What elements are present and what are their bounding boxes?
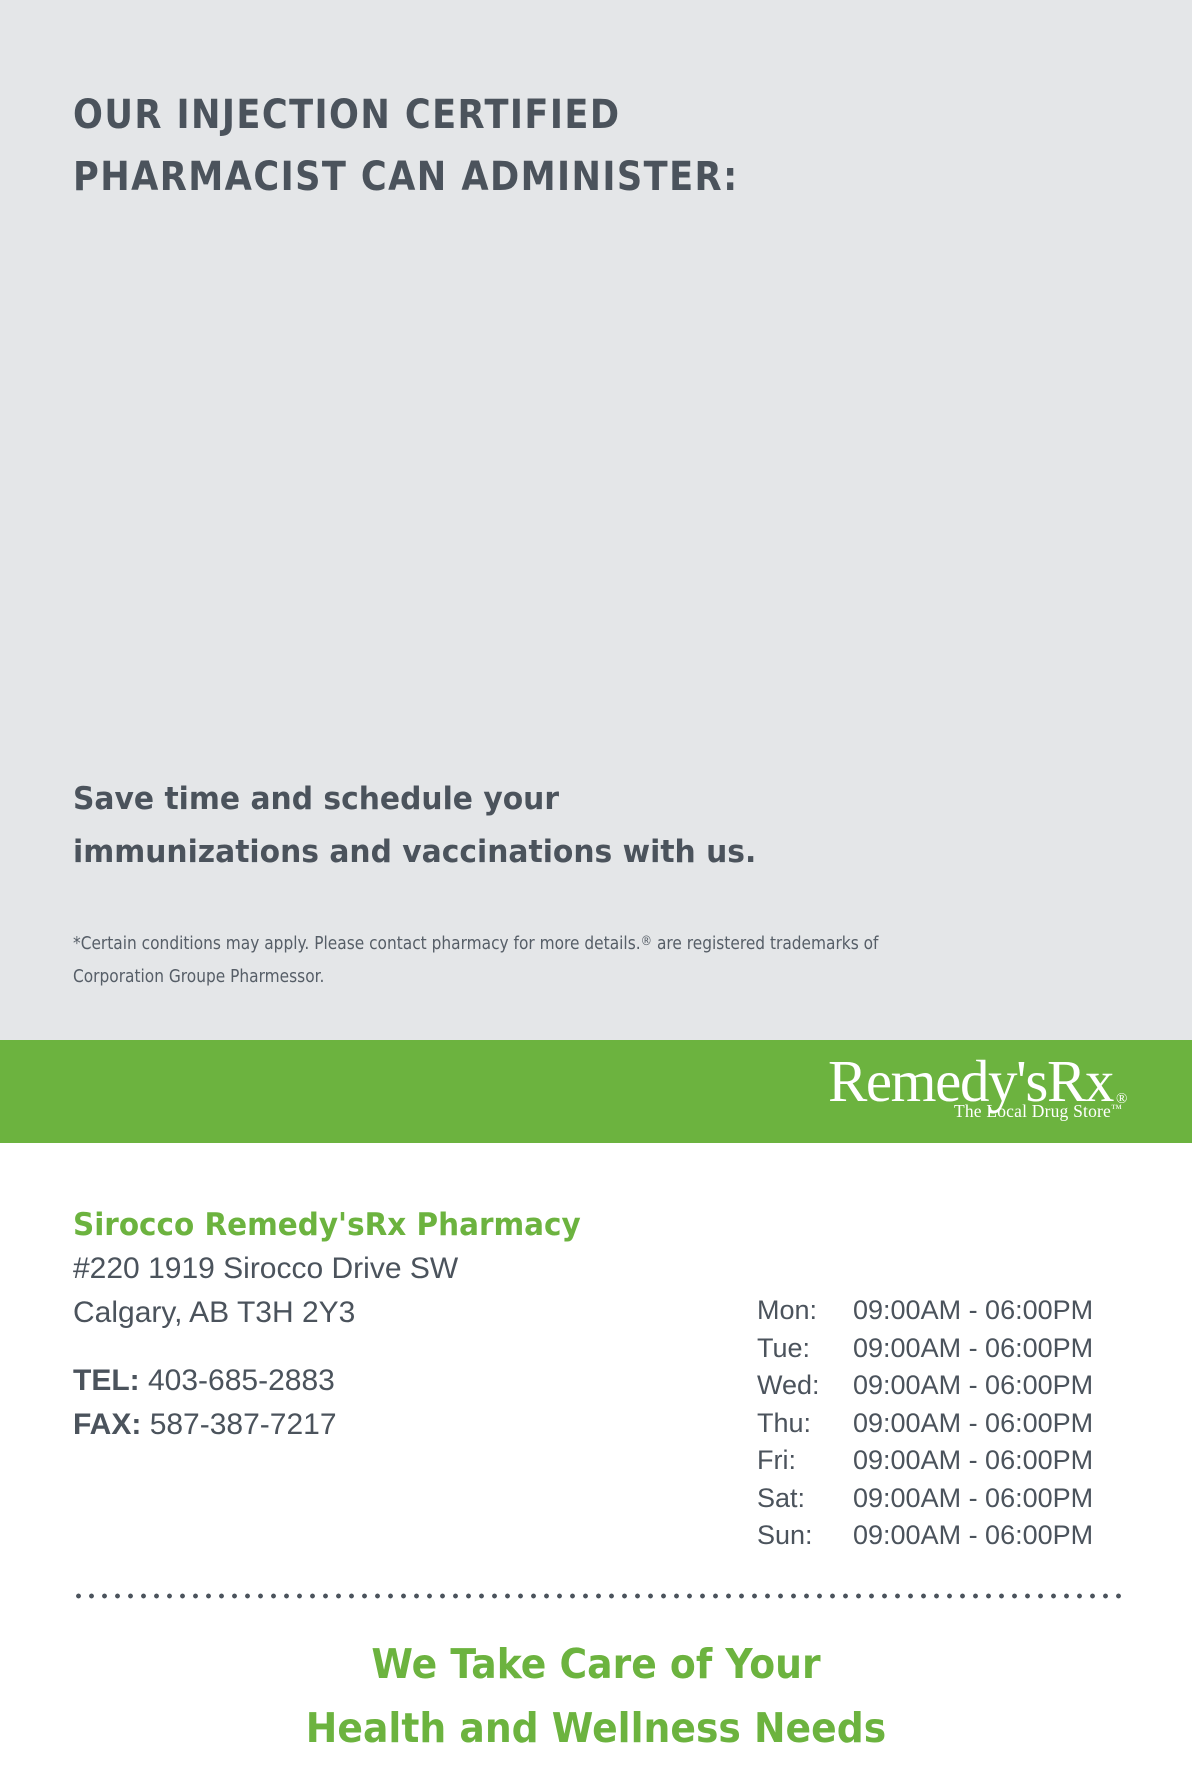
footer-tagline-line-2: Health and Wellness Needs [48, 1696, 1145, 1760]
store-address-line-1: #220 1919 Sirocco Drive SW [73, 1247, 713, 1291]
brand-trademark-icon: ™ [1111, 1103, 1122, 1115]
hours-row: Mon: 09:00AM - 06:00PM [757, 1292, 1137, 1330]
hours-time-value: 09:00AM - 06:00PM [853, 1405, 1137, 1443]
hours-time-value: 09:00AM - 06:00PM [853, 1292, 1137, 1330]
store-telephone-value[interactable]: 403-685-2883 [148, 1364, 335, 1397]
hours-time-value: 09:00AM - 06:00PM [853, 1330, 1137, 1368]
footer-tagline-line-1: We Take Care of Your [48, 1632, 1145, 1696]
hours-row: Fri: 09:00AM - 06:00PM [757, 1442, 1137, 1480]
dotted-divider [72, 1592, 1127, 1600]
store-telephone-label: TEL: [73, 1364, 140, 1397]
hours-day-label: Sun: [757, 1517, 853, 1555]
registered-trademark-icon: ® [641, 934, 652, 949]
hours-time-value: 09:00AM - 06:00PM [853, 1480, 1137, 1518]
store-fax: FAX: 587-387-7217 [73, 1403, 713, 1447]
page-title-line-1: OUR INJECTION CERTIFIED [73, 84, 953, 146]
hours-time-value: 09:00AM - 06:00PM [853, 1367, 1137, 1405]
page-title: OUR INJECTION CERTIFIED PHARMACIST CAN A… [73, 84, 953, 208]
hours-row: Sun: 09:00AM - 06:00PM [757, 1517, 1137, 1555]
vaccine-list-placeholder [73, 240, 1119, 750]
hours-time-value: 09:00AM - 06:00PM [853, 1517, 1137, 1555]
disclaimer-line-1-part-2: are registered trademarks of [657, 934, 879, 954]
brand-tagline-text: The Local Drug Store [954, 1101, 1111, 1121]
hours-day-label: Fri: [757, 1442, 853, 1480]
disclaimer-line-1: *Certain conditions may apply. Please co… [73, 925, 993, 961]
store-hours-table: Mon: 09:00AM - 06:00PM Tue: 09:00AM - 06… [757, 1292, 1137, 1555]
promo-subheading-line-2: immunizations and vaccinations with us. [73, 826, 937, 879]
hours-row: Wed: 09:00AM - 06:00PM [757, 1367, 1137, 1405]
promo-panel: OUR INJECTION CERTIFIED PHARMACIST CAN A… [0, 0, 1192, 1040]
footer-tagline: We Take Care of Your Health and Wellness… [0, 1632, 1192, 1760]
store-contact: TEL: 403-685-2883 FAX: 587-387-7217 [73, 1359, 713, 1447]
store-name: Sirocco Remedy'sRx Pharmacy [73, 1203, 681, 1247]
hours-row: Thu: 09:00AM - 06:00PM [757, 1405, 1137, 1443]
promo-subheading-line-1: Save time and schedule your [73, 773, 937, 826]
promo-subheading: Save time and schedule your immunization… [73, 773, 937, 879]
remedysrx-logo: Remedy'sRx® The Local Drug Store™ [828, 1052, 1126, 1121]
hours-row: Tue: 09:00AM - 06:00PM [757, 1330, 1137, 1368]
disclaimer-line-2: Corporation Groupe Pharmessor. [73, 961, 993, 994]
hours-day-label: Tue: [757, 1330, 853, 1368]
hours-day-label: Sat: [757, 1480, 853, 1518]
hours-day-label: Mon: [757, 1292, 853, 1330]
store-fax-value: 587-387-7217 [150, 1408, 337, 1441]
hours-day-label: Wed: [757, 1367, 853, 1405]
disclaimer-line-1-part-1: *Certain conditions may apply. Please co… [73, 934, 641, 954]
store-info: Sirocco Remedy'sRx Pharmacy #220 1919 Si… [73, 1203, 713, 1447]
page-title-line-2: PHARMACIST CAN ADMINISTER: [73, 146, 953, 208]
hours-time-value: 09:00AM - 06:00PM [853, 1442, 1137, 1480]
brand-band: Remedy'sRx® The Local Drug Store™ [0, 1040, 1192, 1143]
store-telephone: TEL: 403-685-2883 [73, 1359, 713, 1403]
disclaimer-text: *Certain conditions may apply. Please co… [73, 925, 993, 994]
hours-day-label: Thu: [757, 1405, 853, 1443]
store-fax-label: FAX: [73, 1408, 141, 1441]
hours-row: Sat: 09:00AM - 06:00PM [757, 1480, 1137, 1518]
store-address-line-2: Calgary, AB T3H 2Y3 [73, 1291, 713, 1335]
